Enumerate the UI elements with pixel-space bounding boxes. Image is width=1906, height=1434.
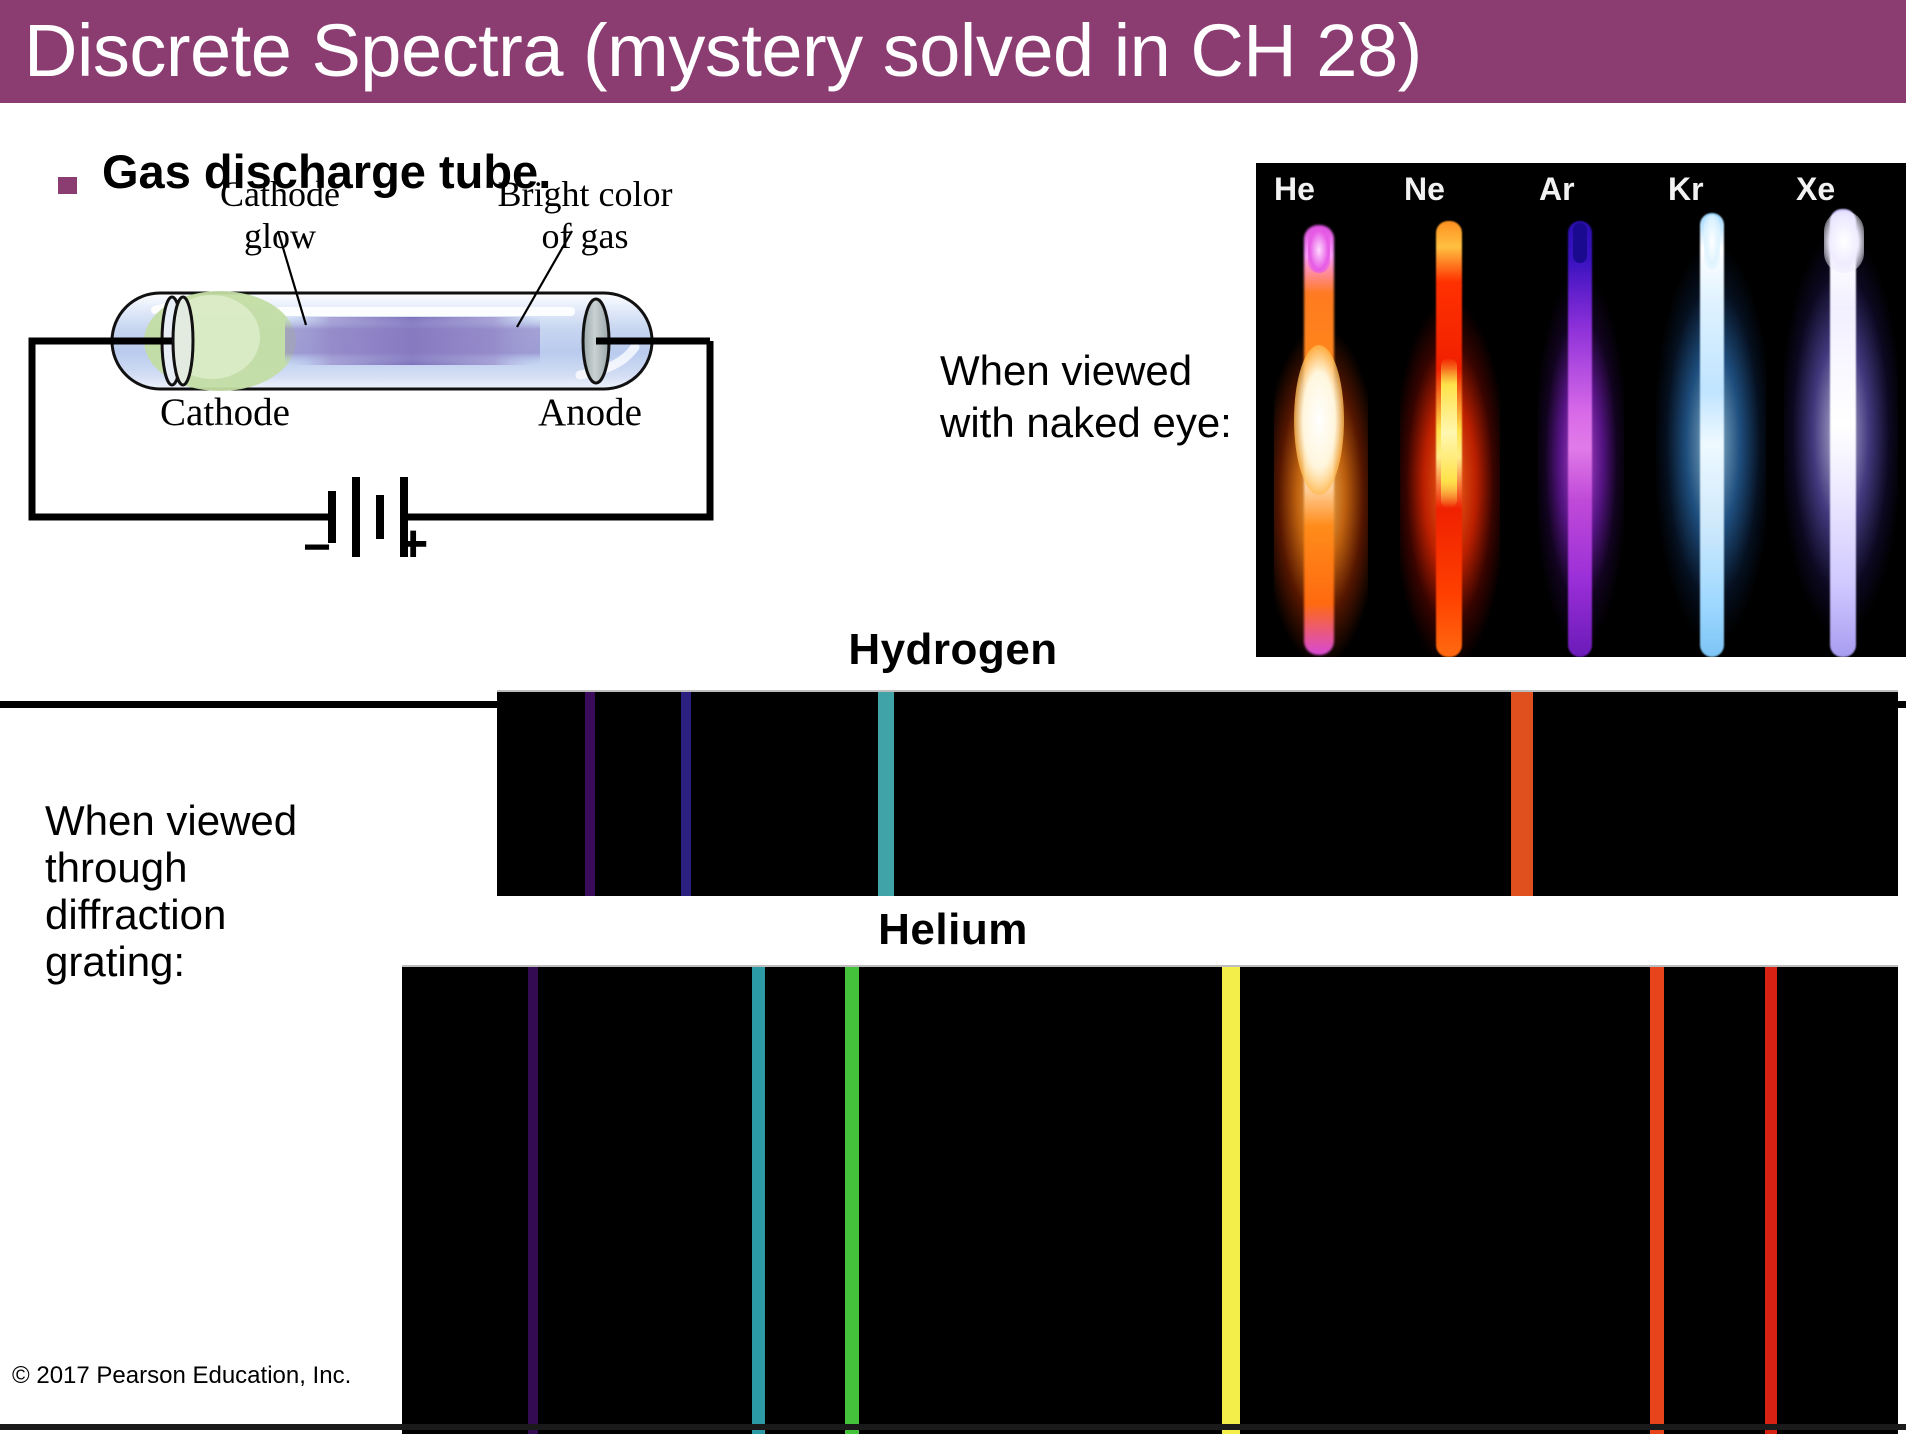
gas-tube-xe xyxy=(1776,163,1906,657)
emission-line-yellow xyxy=(1222,967,1240,1434)
emission-line-indigo-violet xyxy=(681,692,691,896)
gas-discharge-tube-diagram: Cathode glow Bright color of gas Cathode… xyxy=(20,165,740,585)
gas-tube-ar xyxy=(1516,163,1646,657)
naked-eye-caption: When viewed with naked eye: xyxy=(940,345,1240,449)
page-title: Discrete Spectra (mystery solved in CH 2… xyxy=(24,3,1422,99)
gas-tube-ne xyxy=(1386,163,1516,657)
gas-label-he: He xyxy=(1274,171,1315,208)
gas-label-ar: Ar xyxy=(1539,171,1575,208)
hydrogen-spectrum-figure: Hydrogen xyxy=(0,625,1906,895)
tube-circuit-svg xyxy=(20,165,740,585)
copyright-notice: © 2017 Pearson Education, Inc. xyxy=(12,1362,351,1390)
gas-tube-kr xyxy=(1646,163,1776,657)
battery-plus-label: + xyxy=(398,527,428,561)
slide-title-bar: Discrete Spectra (mystery solved in CH 2… xyxy=(0,0,1906,103)
emission-line-red xyxy=(1765,967,1777,1434)
emission-line-violet xyxy=(528,967,538,1434)
emission-line-orange-red xyxy=(1650,967,1664,1434)
emission-line-violet xyxy=(585,692,595,896)
gas-label-ne: Ne xyxy=(1404,171,1445,208)
footer-rule xyxy=(0,1424,1906,1430)
gas-label-kr: Kr xyxy=(1668,171,1704,208)
emission-line-cyan xyxy=(752,967,765,1434)
battery-minus-label: − xyxy=(303,533,331,563)
helium-spectrum-band xyxy=(402,965,1898,1434)
noble-gas-tubes-photo: He Ne Ar Kr Xe xyxy=(1256,163,1906,657)
helium-spectrum-figure: Helium xyxy=(0,905,1906,1430)
slide-root: Discrete Spectra (mystery solved in CH 2… xyxy=(0,0,1906,1430)
hydrogen-title: Hydrogen xyxy=(0,625,1906,675)
gas-label-xe: Xe xyxy=(1796,171,1835,208)
gas-tube-he xyxy=(1256,163,1386,657)
emission-line-green xyxy=(845,967,859,1434)
emission-line-red-orange xyxy=(1511,692,1533,896)
emission-line-cyan xyxy=(878,692,894,896)
hydrogen-spectrum-band xyxy=(497,690,1898,896)
helium-title: Helium xyxy=(0,905,1906,955)
